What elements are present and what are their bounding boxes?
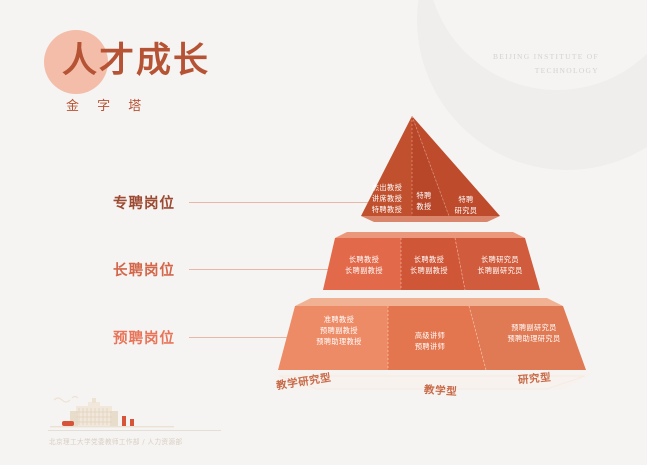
campus-building-icon xyxy=(48,394,178,430)
building-wing-right xyxy=(110,411,118,426)
brand-line-2: TECHNOLOGY xyxy=(493,64,599,78)
pyramid-svg xyxy=(247,108,617,398)
tier-bottom-face-right xyxy=(469,306,586,370)
cloud-decor-icon-2 xyxy=(72,397,78,399)
tier-top-base-bevel xyxy=(361,216,500,222)
building-spire xyxy=(92,398,96,403)
page-title: 人才成长 xyxy=(62,44,210,79)
tier-middle-face-right xyxy=(455,238,540,290)
tier-middle-top-bevel xyxy=(335,232,525,238)
cloud-decor-icon xyxy=(54,398,70,402)
tier-label-text: 长聘岗位 xyxy=(113,259,175,280)
tier-label-text: 预聘岗位 xyxy=(113,327,175,348)
axis-caption-teaching: 教学型 xyxy=(424,382,458,399)
ground-line xyxy=(50,426,174,427)
tier-middle-face-left xyxy=(323,238,401,290)
footer-divider xyxy=(48,430,221,431)
tier-bottom-top-bevel xyxy=(295,298,563,306)
tier-top-face-left xyxy=(361,116,412,216)
building-main xyxy=(76,406,112,426)
axis-caption-research: 研究型 xyxy=(517,370,551,388)
pillar-right-icon xyxy=(130,419,134,426)
pyramid-tier-top xyxy=(361,116,500,222)
slide-canvas: 人才成长 金 字 塔 BEIJING INSTITUTE OF TECHNOLO… xyxy=(0,0,647,465)
pillar-left-icon xyxy=(122,416,126,426)
brand-line-1: BEIJING INSTITUTE OF xyxy=(493,50,599,64)
tier-middle-face-center xyxy=(401,238,465,290)
vehicle-icon xyxy=(62,421,74,426)
footer-illustration xyxy=(48,394,228,435)
footer-text: 北京理工大学党委教师工作部 / 人力资源部 xyxy=(49,436,183,446)
institution-brand: BEIJING INSTITUTE OF TECHNOLOGY xyxy=(493,50,599,79)
pyramid-tier-bottom xyxy=(278,298,586,375)
tier-bottom-face-left xyxy=(278,306,388,370)
pyramid-tier-middle xyxy=(323,232,540,290)
pyramid-diagram: 杰出教授 讲席教授 特聘教授 特聘 教授 特聘 研究员 长聘教授 长聘副教授 长… xyxy=(247,108,617,398)
page-title-group: 人才成长 金 字 塔 xyxy=(62,44,210,114)
tier-label-text: 专聘岗位 xyxy=(113,192,175,213)
page-subtitle: 金 字 塔 xyxy=(66,95,210,114)
